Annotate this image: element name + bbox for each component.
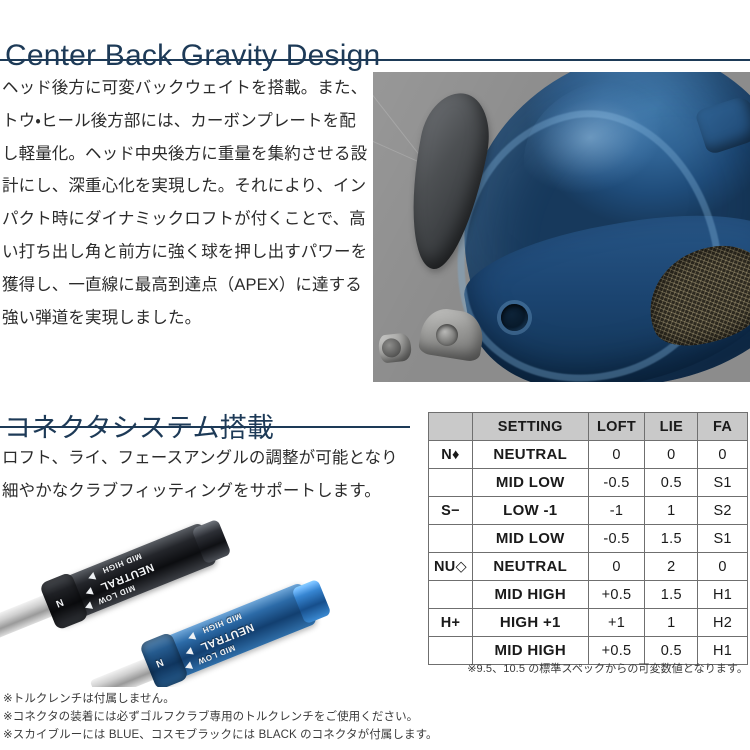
table-row: MID LOW-0.50.5S1 (429, 469, 748, 497)
cell-loft: -0.5 (588, 525, 645, 553)
back-weight-screw (378, 332, 413, 363)
column-header-symbol (429, 413, 473, 441)
cell-lie: 1 (645, 609, 698, 637)
cell-symbol: N♦ (429, 441, 473, 469)
cell-loft: -0.5 (588, 469, 645, 497)
sleeve-arrow-icon (84, 587, 93, 597)
cell-lie: 2 (645, 553, 698, 581)
sleeve-arrow-icon (87, 572, 96, 582)
spec-table-note: ※9.5、10.5 の標準スペックからの可変数値となります。 (428, 660, 748, 676)
adjustment-spec-table: SETTING LOFT LIE FA N♦NEUTRAL000MID LOW-… (428, 412, 748, 665)
cell-setting: LOW -1 (472, 497, 588, 525)
sleeve-arrow-icon (84, 601, 93, 611)
column-header-lie: LIE (645, 413, 698, 441)
cell-fa: S1 (698, 525, 748, 553)
cell-setting: HIGH +1 (472, 609, 588, 637)
product-feature-page: Center Back Gravity Design ヘッド後方に可変バックウェ… (0, 0, 750, 750)
cell-setting: NEUTRAL (472, 441, 588, 469)
cell-fa: H2 (698, 609, 748, 637)
column-header-loft: LOFT (588, 413, 645, 441)
table-row: S−LOW -1-11S2 (429, 497, 748, 525)
cell-loft: 0 (588, 441, 645, 469)
sleeve-arrow-icon (187, 632, 196, 642)
cell-fa: 0 (698, 441, 748, 469)
cell-setting: MID LOW (472, 469, 588, 497)
connector-sleeve-blue: MID HIGH NEUTRAL MID LOW N (144, 582, 318, 686)
cell-lie: 1 (645, 497, 698, 525)
cell-symbol (429, 469, 473, 497)
cell-fa: S2 (698, 497, 748, 525)
footnote-list: ※トルクレンチは付属しません。 ※コネクタの装着には必ずゴルフクラブ専用のトルク… (3, 690, 433, 744)
table-row: H+HIGH +1+11H2 (429, 609, 748, 637)
cell-symbol: S− (429, 497, 473, 525)
sleeve-arrow-icon (184, 661, 193, 671)
cell-loft: +1 (588, 609, 645, 637)
table-row: MID HIGH+0.51.5H1 (429, 581, 748, 609)
cell-fa: 0 (698, 553, 748, 581)
sleeve-collar (39, 572, 89, 631)
cell-setting: NEUTRAL (472, 553, 588, 581)
cell-lie: 1.5 (645, 525, 698, 553)
column-header-fa: FA (698, 413, 748, 441)
cell-lie: 0 (645, 441, 698, 469)
sleeve-cap (291, 579, 331, 625)
table-row: N♦NEUTRAL000 (429, 441, 748, 469)
cell-symbol: NU◇ (429, 553, 473, 581)
sleeve-arrow-icon (184, 647, 193, 657)
driver-head-photo (373, 72, 750, 382)
cell-symbol (429, 525, 473, 553)
sleeve-cap (191, 519, 231, 565)
back-weight-bore (436, 324, 458, 346)
section1-description: ヘッド後方に可変バックウェイトを搭載。また、トウ・ヒール後方部には、カーボンプレ… (2, 72, 368, 334)
footnote-item: ※スカイブルーには BLUE、コスモブラックには BLACK のコネクタが付属し… (3, 726, 433, 744)
cell-lie: 1.5 (645, 581, 698, 609)
connector-sleeves-photo: MID HIGH NEUTRAL MID LOW N MID HIGH NEUT… (0, 512, 420, 687)
title-divider-secondary (0, 426, 410, 428)
cell-fa: H1 (698, 581, 748, 609)
footnote-item: ※トルクレンチは付属しません。 (3, 690, 433, 708)
cell-lie: 0.5 (645, 469, 698, 497)
table-row: MID LOW-0.51.5S1 (429, 525, 748, 553)
table-header-row: SETTING LOFT LIE FA (429, 413, 748, 441)
cell-loft: -1 (588, 497, 645, 525)
section2-description: ロフト、ライ、フェースアングルの調整が可能となり細やかなクラブフィッティングをサ… (2, 442, 406, 508)
footnote-item: ※コネクタの装着には必ずゴルフクラブ専用のトルクレンチをご使用ください。 (3, 708, 433, 726)
cell-setting: MID LOW (472, 525, 588, 553)
page-title: Center Back Gravity Design (5, 39, 380, 73)
cell-loft: 0 (588, 553, 645, 581)
column-header-setting: SETTING (472, 413, 588, 441)
cell-symbol (429, 581, 473, 609)
section2-title: コネクタシステム搭載 (4, 413, 274, 444)
connector-sleeve-black: MID HIGH NEUTRAL MID LOW N (44, 522, 218, 626)
cell-loft: +0.5 (588, 581, 645, 609)
cell-fa: S1 (698, 469, 748, 497)
cell-setting: MID HIGH (472, 581, 588, 609)
cell-symbol: H+ (429, 609, 473, 637)
title-divider-primary (0, 59, 750, 61)
table-row: NU◇NEUTRAL020 (429, 553, 748, 581)
